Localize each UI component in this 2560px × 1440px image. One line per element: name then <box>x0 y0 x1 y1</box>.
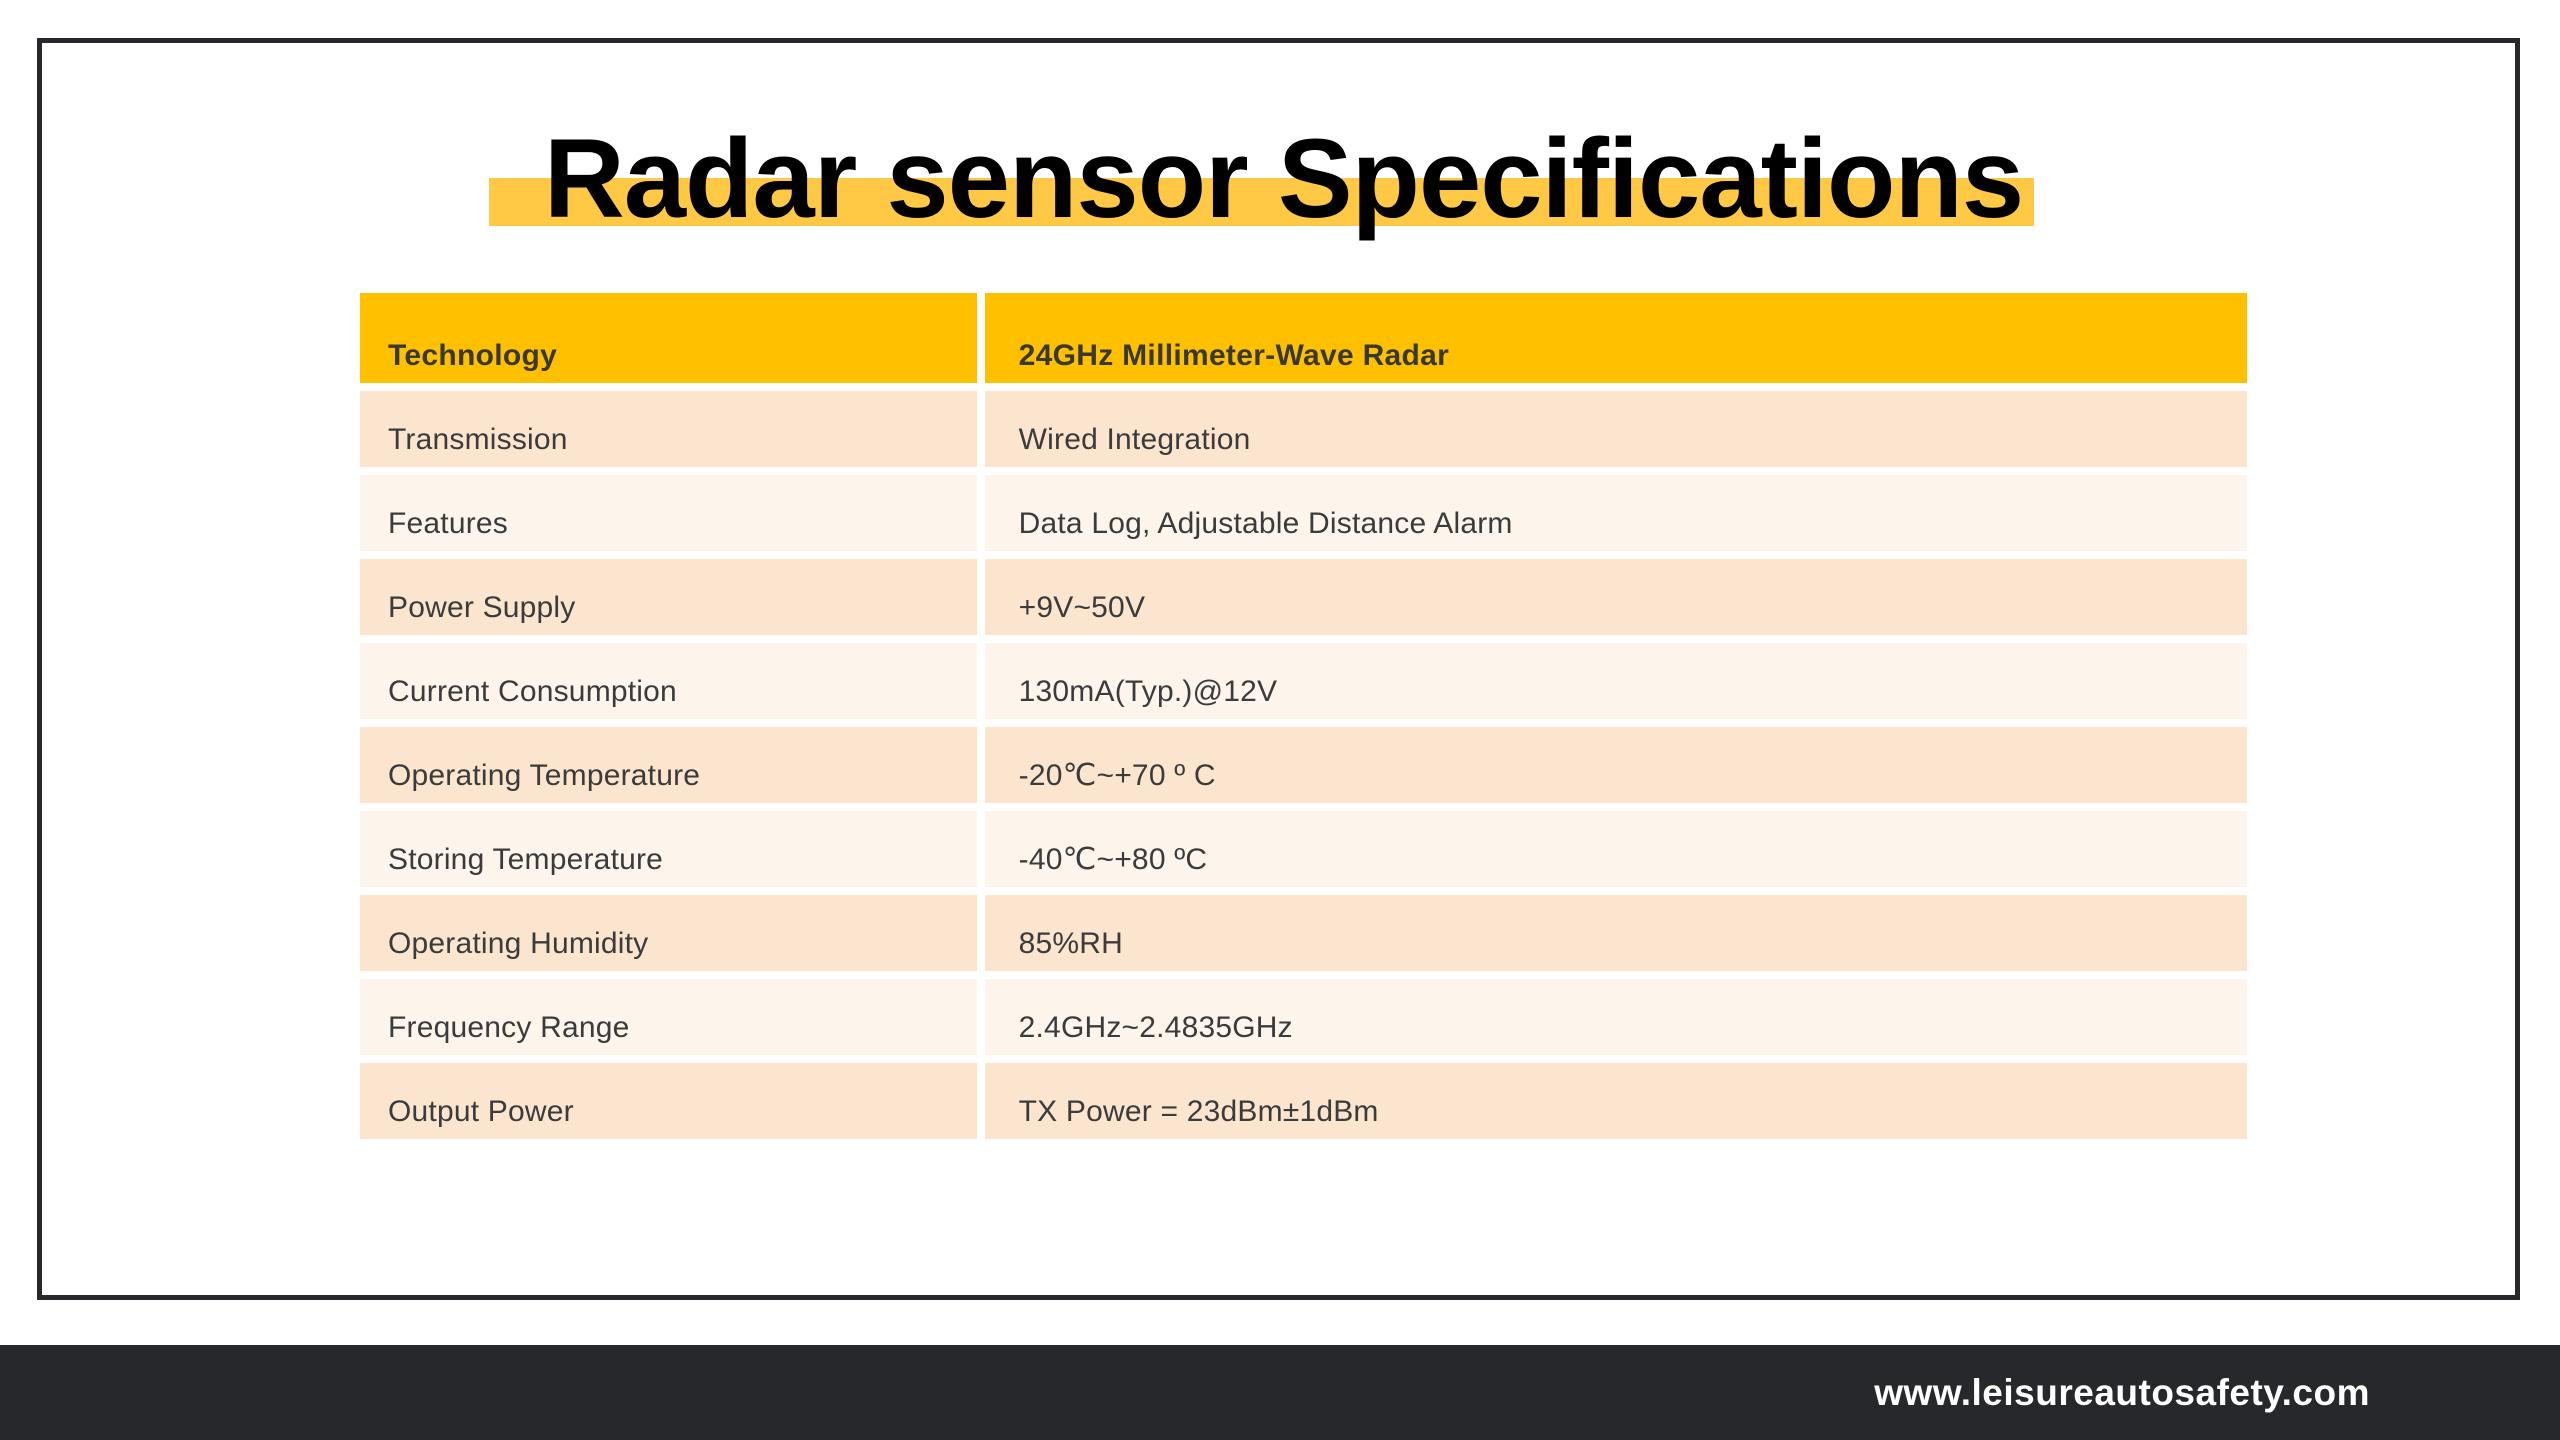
spec-value: 130mA(Typ.)@12V <box>985 643 2247 719</box>
slide-frame: Radar sensor Specifications Technology 2… <box>37 38 2520 1300</box>
slide-title-block: Radar sensor Specifications <box>42 103 2525 283</box>
table-row: Operating Humidity 85%RH <box>360 895 2247 971</box>
spec-value: +9V~50V <box>985 559 2247 635</box>
spec-value: 2.4GHz~2.4835GHz <box>985 979 2247 1055</box>
row-gap <box>360 719 2247 727</box>
table-header-value: 24GHz Millimeter-Wave Radar <box>985 293 2247 383</box>
table-row: Power Supply +9V~50V <box>360 559 2247 635</box>
spec-label: Operating Temperature <box>360 727 985 803</box>
row-gap <box>360 635 2247 643</box>
table-row: Operating Temperature -20℃~+70 º C <box>360 727 2247 803</box>
specifications-table-body: Technology 24GHz Millimeter-Wave Radar T… <box>360 293 2247 1139</box>
table-row: Output Power TX Power = 23dBm±1dBm <box>360 1063 2247 1139</box>
spec-value: -40℃~+80 ºC <box>985 811 2247 887</box>
spec-value: 85%RH <box>985 895 2247 971</box>
footer-bar: www.leisureautosafety.com <box>0 1345 2560 1440</box>
spec-value: TX Power = 23dBm±1dBm <box>985 1063 2247 1139</box>
row-gap <box>360 551 2247 559</box>
row-gap <box>360 1055 2247 1063</box>
spec-value: Data Log, Adjustable Distance Alarm <box>985 475 2247 551</box>
row-gap <box>360 887 2247 895</box>
row-gap <box>360 467 2247 475</box>
table-row: Current Consumption 130mA(Typ.)@12V <box>360 643 2247 719</box>
spec-label: Operating Humidity <box>360 895 985 971</box>
spec-label: Transmission <box>360 391 985 467</box>
spec-value: Wired Integration <box>985 391 2247 467</box>
table-row: Transmission Wired Integration <box>360 391 2247 467</box>
footer-website-url: www.leisureautosafety.com <box>0 1345 2370 1440</box>
spec-label: Features <box>360 475 985 551</box>
spec-label: Current Consumption <box>360 643 985 719</box>
row-gap <box>360 971 2247 979</box>
spec-label: Storing Temperature <box>360 811 985 887</box>
spec-label: Frequency Range <box>360 979 985 1055</box>
row-gap <box>360 803 2247 811</box>
table-row: Frequency Range 2.4GHz~2.4835GHz <box>360 979 2247 1055</box>
spec-label: Output Power <box>360 1063 985 1139</box>
table-row: Features Data Log, Adjustable Distance A… <box>360 475 2247 551</box>
page-title: Radar sensor Specifications <box>42 113 2525 245</box>
row-gap <box>360 383 2247 391</box>
spec-value: -20℃~+70 º C <box>985 727 2247 803</box>
spec-label: Power Supply <box>360 559 985 635</box>
table-header-row: Technology 24GHz Millimeter-Wave Radar <box>360 293 2247 383</box>
table-header-label: Technology <box>360 293 985 383</box>
specifications-table: Technology 24GHz Millimeter-Wave Radar T… <box>360 293 2247 1139</box>
table-row: Storing Temperature -40℃~+80 ºC <box>360 811 2247 887</box>
